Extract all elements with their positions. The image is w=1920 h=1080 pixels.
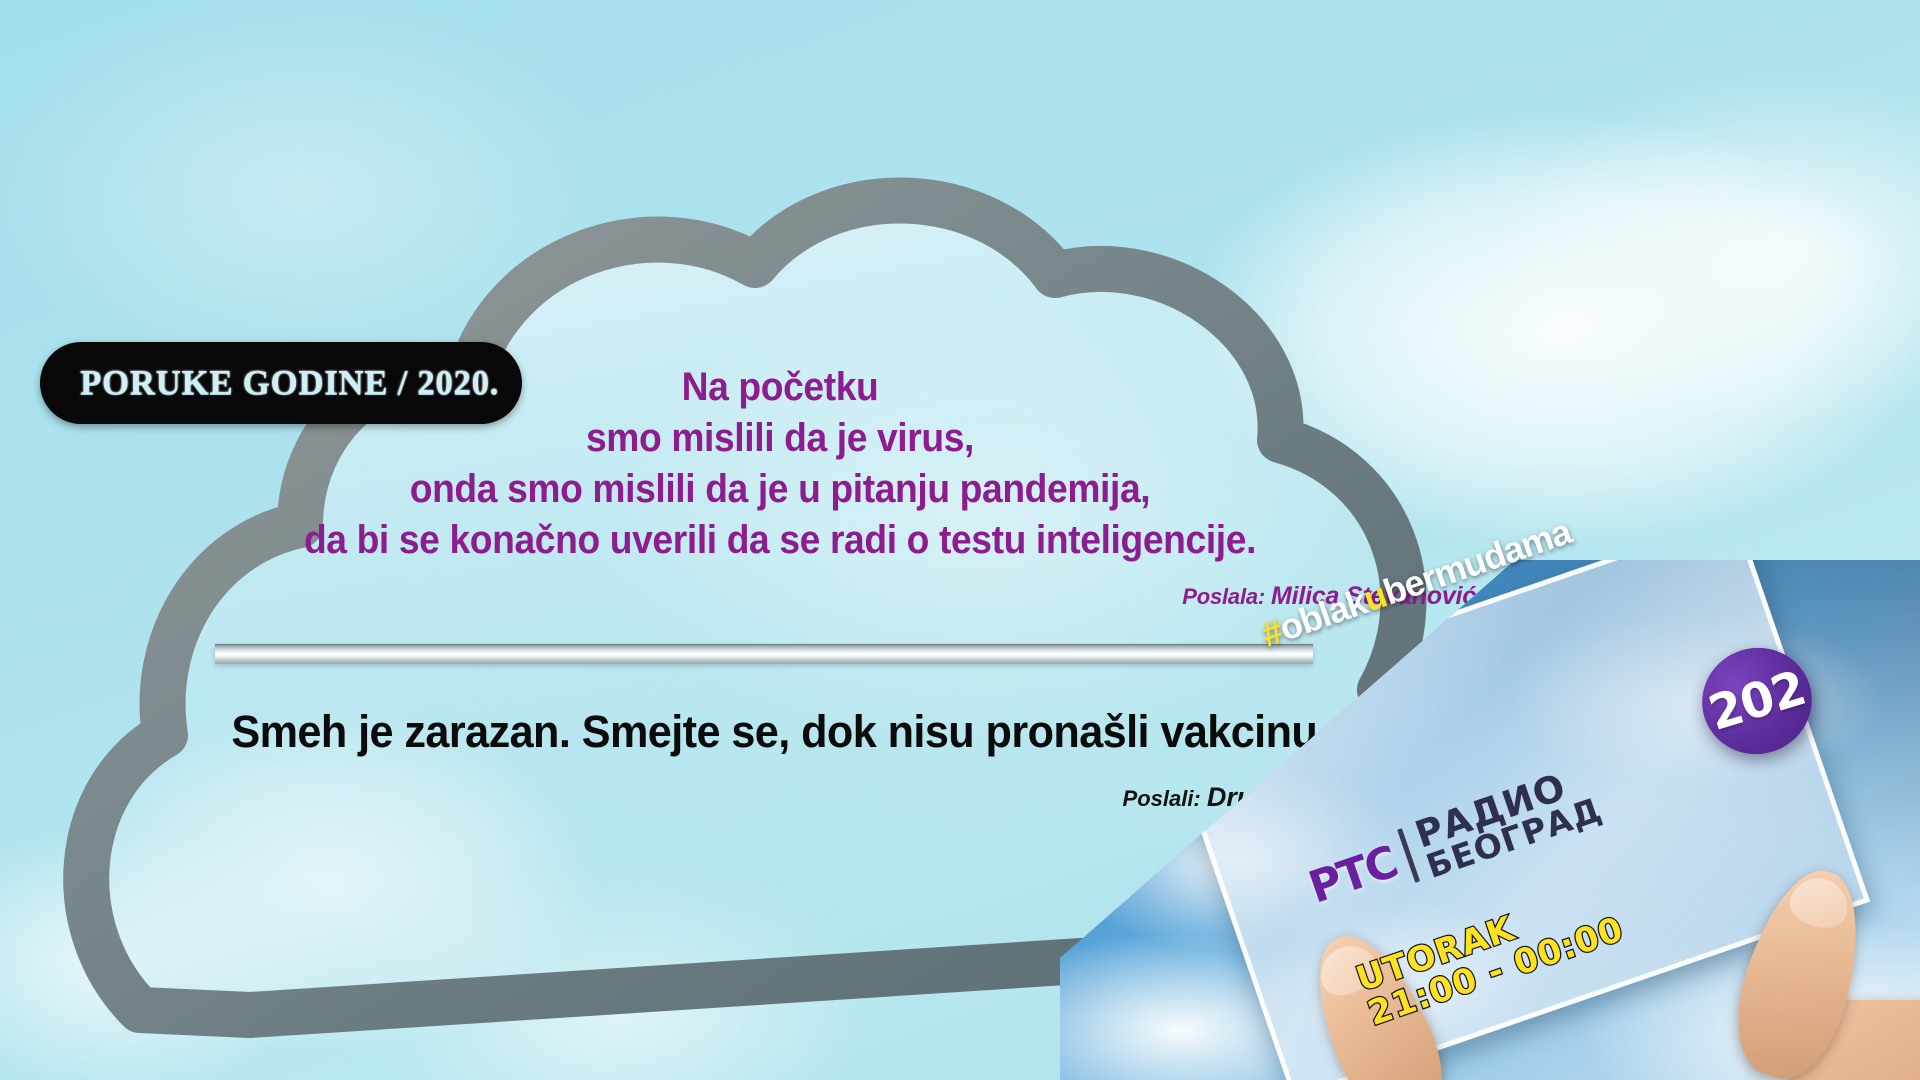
frequency-badge-text: 202 bbox=[1702, 660, 1811, 742]
quote-purple: Na početku smo mislili da je virus, onda… bbox=[0, 362, 1560, 611]
quote-black-credit-label: Poslali: bbox=[1123, 786, 1201, 811]
metallic-divider bbox=[215, 644, 1313, 664]
broadcast-graphic-frame: PORUKE GODINE / 2020. Na početku smo mis… bbox=[0, 0, 1920, 1080]
quote-purple-line-2: smo mislili da je virus, bbox=[55, 413, 1506, 464]
quote-purple-line-4: da bi se konačno uverili da se radi o te… bbox=[55, 515, 1506, 566]
quote-purple-line-3: onda smo mislili da je u pitanju pandemi… bbox=[55, 464, 1506, 515]
quote-purple-line-1: Na početku bbox=[55, 362, 1506, 413]
quote-purple-credit-label: Poslala: bbox=[1182, 584, 1265, 609]
